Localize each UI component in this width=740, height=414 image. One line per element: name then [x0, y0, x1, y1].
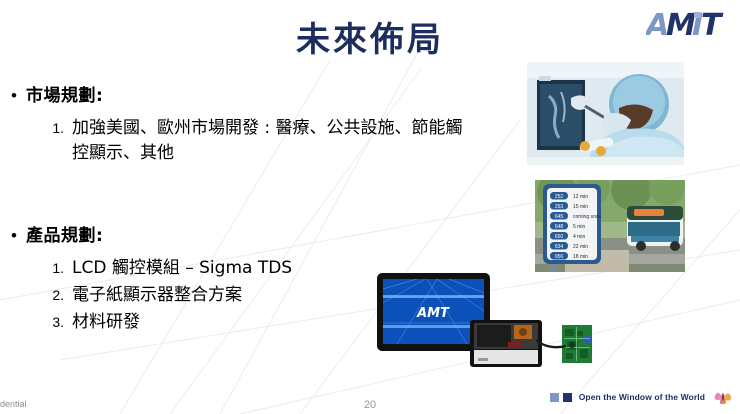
bus-eta-text: coming soon [573, 214, 602, 220]
list-item-text: 材料研發 [72, 310, 140, 335]
brand-square-dark [563, 393, 572, 402]
bus-eta-text: 4 min [573, 234, 585, 240]
image-touch-panel-module [470, 320, 542, 367]
bullet-dot: • [0, 224, 26, 248]
bullet-row-product: • 產品規劃: [0, 224, 500, 248]
slide-canvas: 未來佈局 A M I T • 市場規劃: 1. 加強美國、歐州市場開發 : 醫療… [0, 0, 740, 414]
image-control-pcb [562, 325, 592, 363]
bullet-heading-product: 產品規劃: [26, 224, 103, 248]
cable-connector [536, 338, 566, 352]
bus-route-number: 634 [555, 244, 564, 250]
bus-eta-text: 18 min [573, 254, 588, 260]
list-item: 1. 加強美國、歐州市場開發 : 醫療、公共設施、節能觸控顯示、其他 [0, 116, 500, 166]
footer-branding: Open the Window of the World [550, 389, 732, 405]
page-title: 未來佈局 [0, 12, 740, 61]
amt-logo: A M I T [646, 8, 730, 42]
bus-route-number: 645 [555, 214, 564, 220]
list-item-index: 2. [42, 283, 72, 308]
bullet-dot: • [0, 84, 26, 108]
monitor-screen-text: AMT [416, 306, 450, 321]
bullet-row-market: • 市場規劃: [0, 84, 500, 108]
list-item-index: 3. [42, 310, 72, 335]
image-medical-surgery [527, 62, 684, 165]
bullet-heading-market: 市場規劃: [26, 84, 103, 108]
list-item-index: 1. [42, 256, 72, 281]
list-item-text: LCD 觸控模組 – Sigma TDS [72, 256, 292, 281]
bus-route-number: 253 [555, 204, 564, 210]
list-item-index: 1. [42, 116, 72, 141]
numbered-list-market: 1. 加強美國、歐州市場開發 : 醫療、公共設施、節能觸控顯示、其他 [0, 116, 500, 166]
list-item-text: 加強美國、歐州市場開發 : 醫療、公共設施、節能觸控顯示、其他 [72, 116, 472, 166]
bus-eta-text: 22 min [573, 244, 588, 250]
bus-route-number: 650 [555, 234, 564, 240]
bus-route-number: 252 [555, 194, 564, 200]
bus-eta-text: 12 min [573, 194, 588, 200]
list-item-text: 電子紙顯示器整合方案 [72, 283, 242, 308]
bus-eta-text: 15 min [573, 204, 588, 210]
image-bus-stop-epaper: 25212 min25315 min645coming soon6485 min… [535, 180, 685, 272]
butterfly-icon [714, 389, 732, 405]
bus-route-number: 648 [555, 224, 564, 230]
content-block-market: • 市場規劃: 1. 加強美國、歐州市場開發 : 醫療、公共設施、節能觸控顯示、… [0, 84, 500, 168]
bus-eta-text: 5 min [573, 224, 585, 230]
brand-square-light [550, 393, 559, 402]
bus-route-number: 956 [555, 254, 564, 260]
footer-tagline: Open the Window of the World [579, 392, 705, 402]
svg-text:T: T [701, 8, 724, 42]
